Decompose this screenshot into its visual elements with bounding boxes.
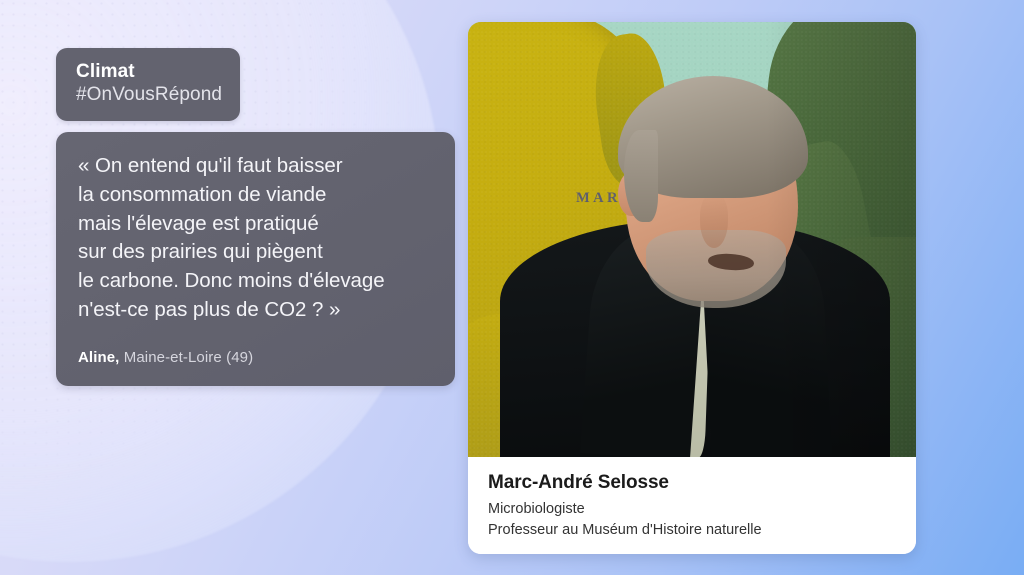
- interviewee-role: Microbiologiste: [488, 500, 916, 520]
- topic-title: Climat: [76, 60, 222, 83]
- interviewee-name: Marc-André Selosse: [488, 472, 916, 495]
- quote-text: « On entend qu'il faut baisser la consom…: [78, 152, 433, 325]
- interviewee-figure: [468, 22, 916, 457]
- interviewee-nameplate: Marc-André Selosse Microbiologiste Profe…: [468, 457, 916, 554]
- hair: [618, 76, 808, 198]
- quote-author-name: Aline,: [78, 349, 119, 366]
- broadcast-graphic-stage: Climat #OnVousRépond « On entend qu'il f…: [0, 0, 1024, 575]
- interviewee-affiliation: Professeur au Muséum d'Histoire naturell…: [488, 521, 916, 541]
- quote-attribution: Aline, Maine-et-Loire (49): [78, 349, 433, 366]
- interview-photo: MARE: [468, 22, 916, 457]
- interview-video-card[interactable]: MARE: [468, 22, 916, 554]
- topic-hashtag: #OnVousRépond: [76, 83, 222, 107]
- nose: [700, 194, 728, 248]
- viewer-question-card: « On entend qu'il faut baisser la consom…: [56, 132, 455, 386]
- topic-tag: Climat #OnVousRépond: [56, 48, 240, 121]
- quote-author-location: Maine-et-Loire (49): [124, 349, 253, 366]
